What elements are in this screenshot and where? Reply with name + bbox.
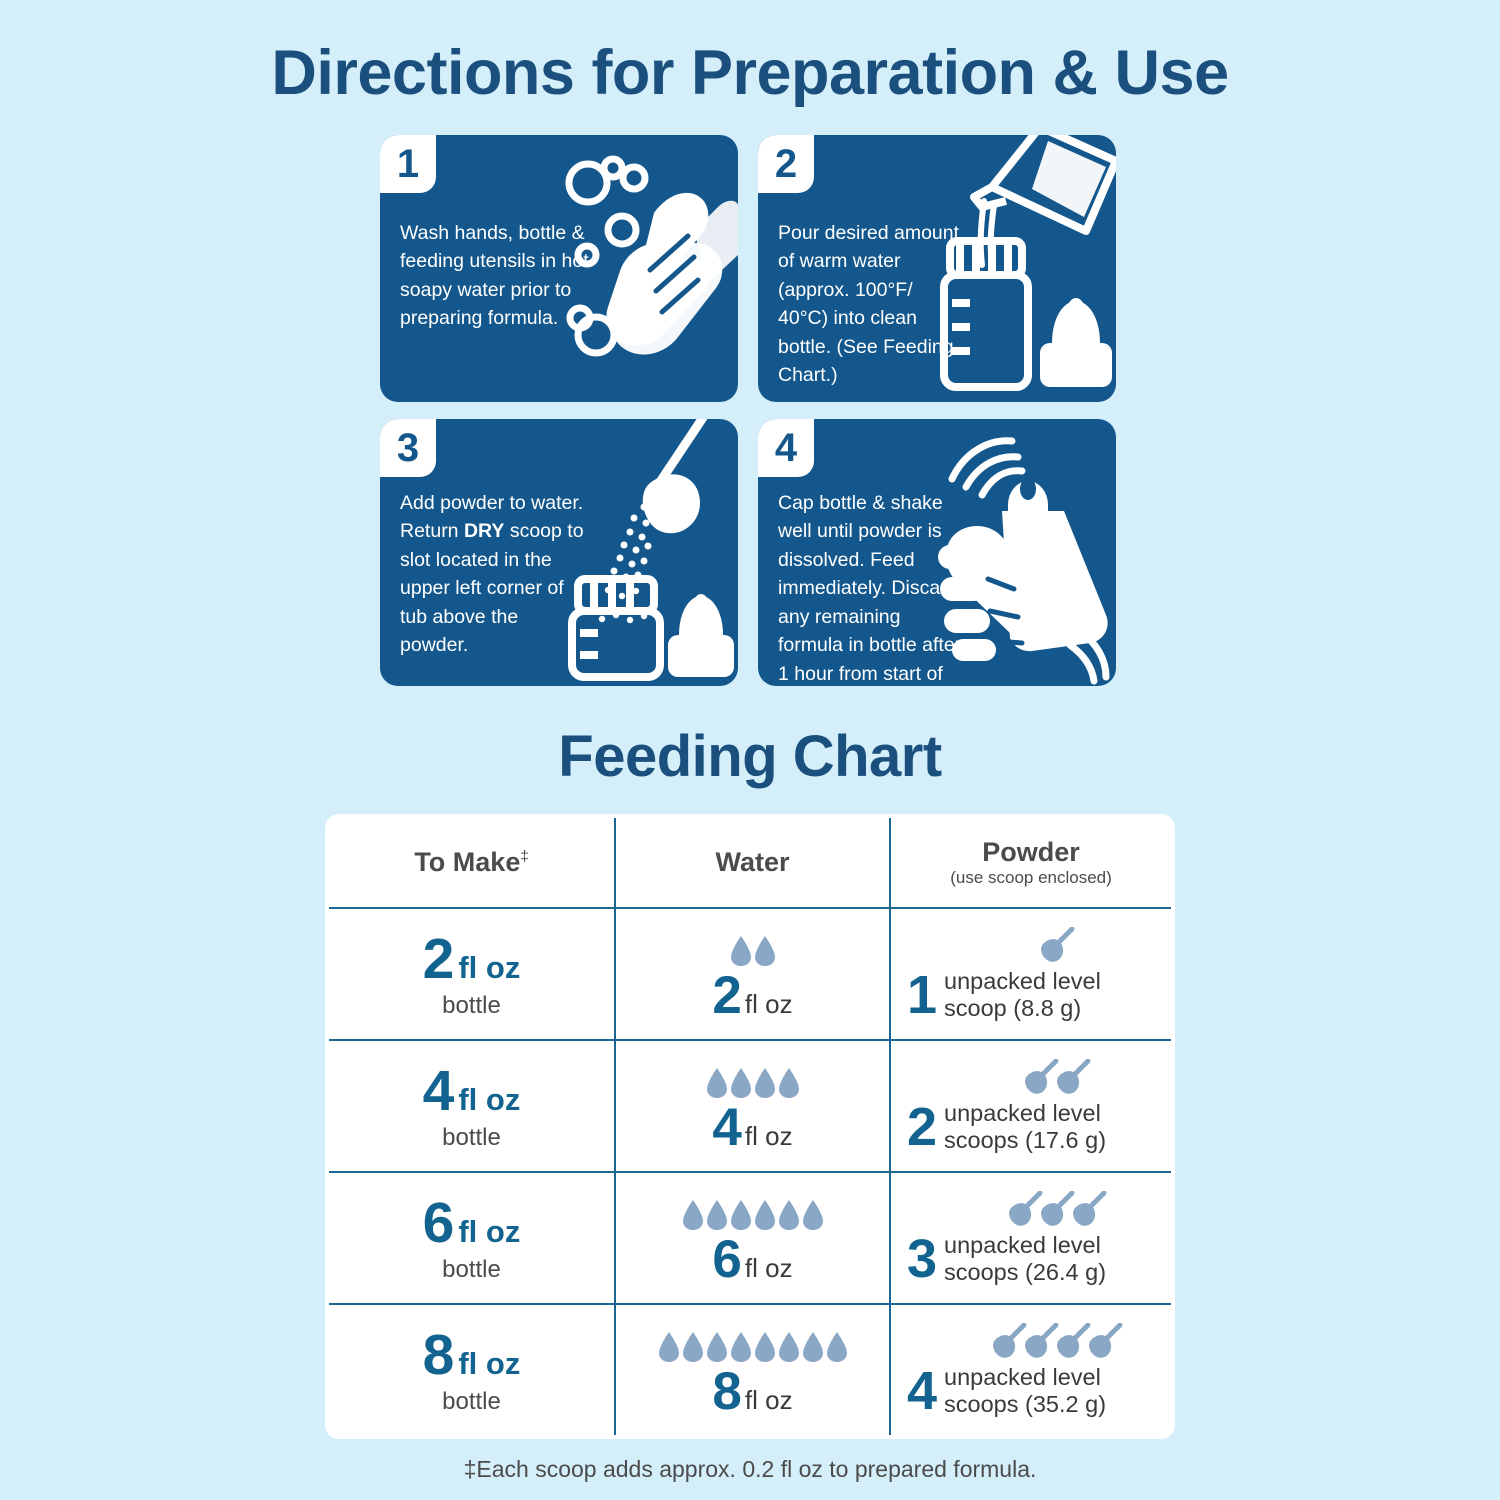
- water-drop-icon: [778, 1199, 800, 1231]
- column-header-powder: Powder (use scoop enclosed): [890, 816, 1173, 908]
- to-make-container: bottle: [329, 994, 614, 1018]
- to-make-unit: fl oz: [458, 1214, 520, 1249]
- water-drop-icon: [778, 1067, 800, 1099]
- table-header-row: To Make‡ Water Powder (use scoop enclose…: [327, 816, 1173, 908]
- water-drop-icon: [754, 935, 776, 967]
- to-make-amount: 8: [423, 1323, 454, 1387]
- step-card-3: 3 Add powder to water. Return DRY scoop …: [380, 419, 738, 686]
- water-drop-row: [616, 1059, 889, 1099]
- step-card-1: 1 Wash hands, bottle & feeding utensils …: [380, 135, 738, 402]
- cell-to-make: 8fl ozbottle: [327, 1304, 615, 1437]
- water-drop-icon: [730, 1331, 752, 1363]
- step-number-badge-2: 2: [758, 135, 814, 193]
- powder-description: unpacked levelscoops (26.4 g): [944, 1232, 1106, 1286]
- to-make-amount: 6: [423, 1191, 454, 1255]
- powder-scoop-count: 3: [907, 1232, 936, 1286]
- cell-water: 8fl oz: [615, 1304, 890, 1437]
- water-drop-icon: [802, 1331, 824, 1363]
- table-row: 8fl ozbottle8fl oz4unpacked levelscoops …: [327, 1304, 1173, 1437]
- feeding-chart-table: To Make‡ Water Powder (use scoop enclose…: [325, 814, 1175, 1439]
- water-drop-icon: [754, 1199, 776, 1231]
- to-make-container: bottle: [329, 1126, 614, 1150]
- powder-sublabel: (use scoop enclosed): [891, 869, 1171, 888]
- step-text-1: Wash hands, bottle & feeding utensils in…: [400, 219, 590, 333]
- cell-to-make: 2fl ozbottle: [327, 908, 615, 1040]
- infographic-page: Directions for Preparation & Use 1 Wash …: [0, 0, 1500, 1500]
- powder-scoop-count: 4: [907, 1364, 936, 1418]
- powder-label: Powder: [982, 837, 1080, 867]
- water-drop-icon: [682, 1331, 704, 1363]
- step-card-4: 4 Cap bottle & shake well until powder i…: [758, 419, 1116, 686]
- water-drop-icon: [706, 1199, 728, 1231]
- column-header-water: Water: [615, 816, 890, 908]
- water-amount: 6: [712, 1230, 740, 1289]
- water-drop-icon: [826, 1331, 848, 1363]
- powder-scoop-count: 2: [907, 1100, 936, 1154]
- table-row: 6fl ozbottle6fl oz3unpacked levelscoops …: [327, 1172, 1173, 1304]
- water-drop-icon: [778, 1331, 800, 1363]
- feeding-chart-title: Feeding Chart: [0, 728, 1500, 786]
- table-body: 2fl ozbottle2fl oz1unpacked levelscoop (…: [327, 908, 1173, 1437]
- water-drop-icon: [754, 1067, 776, 1099]
- scoop-icon: [1052, 1059, 1092, 1099]
- scoop-icon: [1036, 927, 1076, 967]
- cell-to-make: 4fl ozbottle: [327, 1040, 615, 1172]
- step-text-3: Add powder to water. Return DRY scoop to…: [400, 489, 590, 660]
- cell-water: 2fl oz: [615, 908, 890, 1040]
- table-row: 2fl ozbottle2fl oz1unpacked levelscoop (…: [327, 908, 1173, 1040]
- to-make-unit: fl oz: [458, 950, 520, 985]
- to-make-unit: fl oz: [458, 1346, 520, 1381]
- cell-powder: 1unpacked levelscoop (8.8 g): [890, 908, 1173, 1040]
- to-make-amount: 2: [423, 927, 454, 991]
- step-number-badge-3: 3: [380, 419, 436, 477]
- water-amount: 2: [712, 966, 740, 1025]
- cell-powder: 4unpacked levelscoops (35.2 g): [890, 1304, 1173, 1437]
- to-make-unit: fl oz: [458, 1082, 520, 1117]
- water-amount: 4: [712, 1098, 740, 1157]
- feeding-chart-wrapper: To Make‡ Water Powder (use scoop enclose…: [325, 814, 1175, 1483]
- preparation-steps-grid: 1 Wash hands, bottle & feeding utensils …: [380, 135, 1120, 686]
- water-drop-icon: [730, 935, 752, 967]
- water-drop-row: [616, 927, 889, 967]
- cell-powder: 3unpacked levelscoops (26.4 g): [890, 1172, 1173, 1304]
- scoop-row: [901, 1059, 1171, 1099]
- water-amount: 8: [712, 1362, 740, 1421]
- water-unit: fl oz: [745, 1253, 793, 1283]
- water-drop-icon: [682, 1199, 704, 1231]
- scoop-icon: [1084, 1323, 1124, 1363]
- to-make-container: bottle: [329, 1258, 614, 1282]
- powder-description: unpacked levelscoop (8.8 g): [944, 968, 1101, 1022]
- water-label: Water: [715, 847, 789, 877]
- page-title: Directions for Preparation & Use: [0, 0, 1500, 105]
- step-card-2: 2 Pour desired amount of warm water (app…: [758, 135, 1116, 402]
- water-drop-icon: [754, 1331, 776, 1363]
- table-row: 4fl ozbottle4fl oz2unpacked levelscoops …: [327, 1040, 1173, 1172]
- chart-footnote: ‡Each scoop adds approx. 0.2 fl oz to pr…: [325, 1456, 1175, 1483]
- water-drop-icon: [706, 1067, 728, 1099]
- step-number-badge-4: 4: [758, 419, 814, 477]
- water-drop-row: [616, 1191, 889, 1231]
- cell-water: 6fl oz: [615, 1172, 890, 1304]
- water-unit: fl oz: [745, 1121, 793, 1151]
- scoop-row: [901, 1323, 1171, 1363]
- cell-powder: 2unpacked levelscoops (17.6 g): [890, 1040, 1173, 1172]
- scoop-icon: [1068, 1191, 1108, 1231]
- column-header-to-make: To Make‡: [327, 816, 615, 908]
- water-unit: fl oz: [745, 989, 793, 1019]
- to-make-container: bottle: [329, 1390, 614, 1414]
- scoop-row: [901, 927, 1171, 967]
- powder-scoop-count: 1: [907, 968, 936, 1022]
- step-number-badge-1: 1: [380, 135, 436, 193]
- water-drop-icon: [658, 1331, 680, 1363]
- water-drop-icon: [802, 1199, 824, 1231]
- water-unit: fl oz: [745, 1385, 793, 1415]
- to-make-footnote-marker: ‡: [520, 848, 528, 865]
- powder-description: unpacked levelscoops (17.6 g): [944, 1100, 1106, 1154]
- to-make-label: To Make: [414, 847, 520, 877]
- cell-water: 4fl oz: [615, 1040, 890, 1172]
- to-make-amount: 4: [423, 1059, 454, 1123]
- water-drop-icon: [730, 1067, 752, 1099]
- water-drop-icon: [706, 1331, 728, 1363]
- water-drop-row: [616, 1323, 889, 1363]
- cell-to-make: 6fl ozbottle: [327, 1172, 615, 1304]
- step-text-2: Pour desired amount of warm water (appro…: [778, 219, 968, 390]
- step-text-4: Cap bottle & shake well until powder is …: [778, 489, 968, 686]
- water-drop-icon: [730, 1199, 752, 1231]
- scoop-row: [901, 1191, 1171, 1231]
- powder-description: unpacked levelscoops (35.2 g): [944, 1364, 1106, 1418]
